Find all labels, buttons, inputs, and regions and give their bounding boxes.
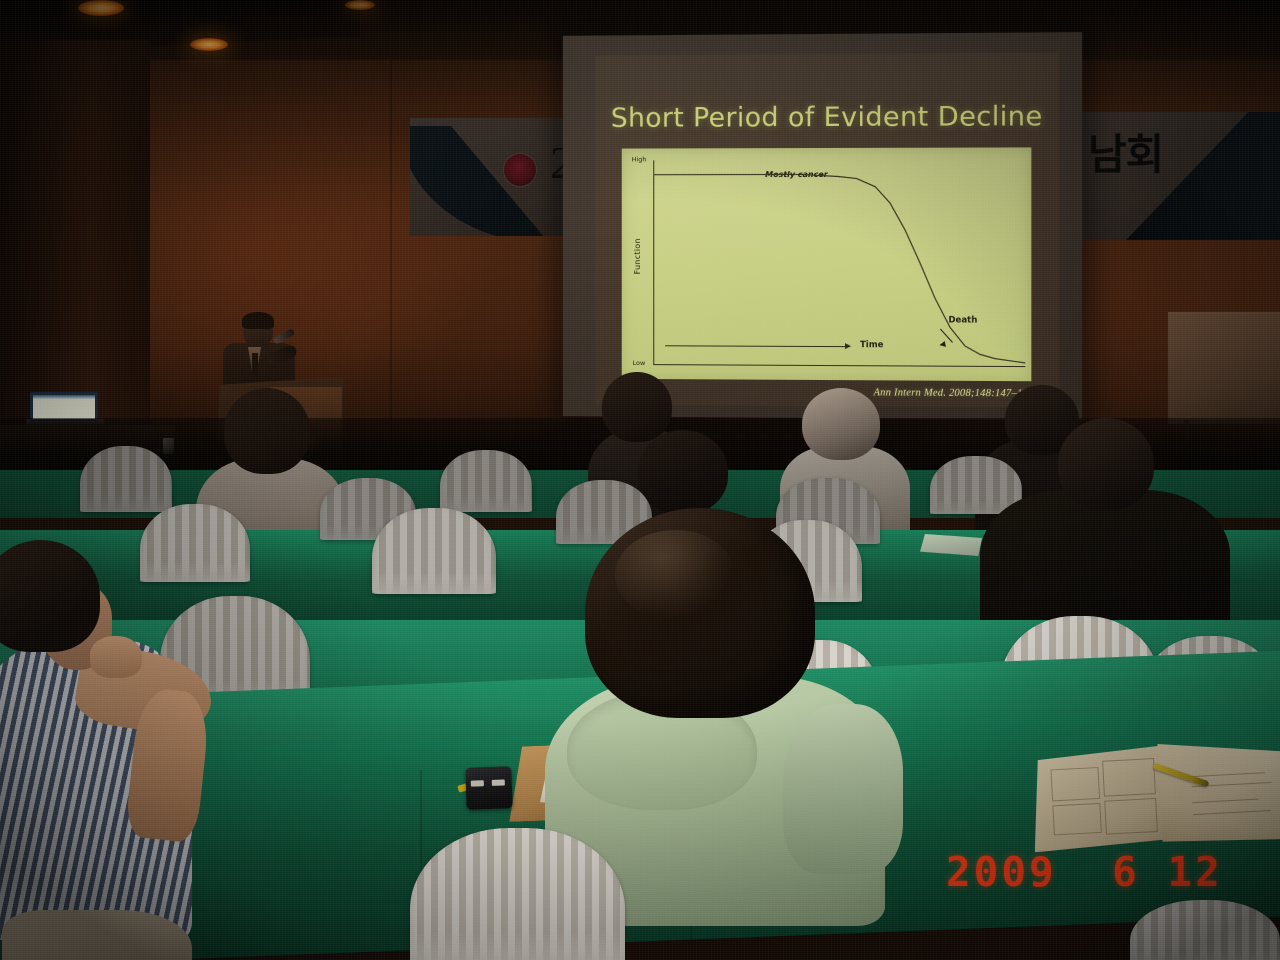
- ceiling-downlight-icon: [78, 0, 124, 16]
- wall-banner-right: 남회: [1082, 112, 1280, 240]
- presentation-slide: Short Period of Evident Decline High Low…: [595, 52, 1059, 407]
- slide-title: Short Period of Evident Decline: [595, 101, 1059, 134]
- camera-on-table: [465, 766, 512, 810]
- booklet-text-block: [1102, 758, 1156, 797]
- ceiling-downlight-icon: [190, 38, 228, 51]
- chair-cover: [80, 446, 172, 512]
- hair-highlight: [615, 530, 735, 620]
- audience-member-green-hoodie: [545, 508, 945, 908]
- projection-screen: Short Period of Evident Decline High Low…: [563, 26, 1082, 420]
- slide-chart-panel: High Low Function Mostly cancer Death Ti…: [622, 147, 1032, 381]
- booklet-right-page: [1157, 735, 1280, 846]
- hand: [90, 636, 142, 678]
- wall-banner-left: 2: [410, 118, 575, 236]
- head: [802, 388, 880, 460]
- camera-date-stamp: 2009 6 12: [946, 848, 1223, 896]
- head: [0, 540, 100, 652]
- y-axis-label: Function: [633, 226, 642, 286]
- booklet-text-block: [1052, 803, 1102, 835]
- leg: [2, 910, 192, 960]
- ceiling-downlight-icon: [345, 0, 375, 10]
- head: [224, 388, 310, 474]
- whiteboard: [1168, 312, 1280, 424]
- audience-member-striped-shirt: [0, 540, 232, 960]
- society-emblem-icon: [504, 154, 536, 186]
- y-tick-low: Low: [633, 359, 646, 367]
- right-shoulder: [783, 704, 903, 874]
- speaker-tie: [252, 353, 258, 379]
- speaker-hair: [242, 312, 274, 329]
- wall-seam: [390, 60, 392, 460]
- head: [638, 430, 728, 514]
- laptop-screen: [33, 395, 95, 419]
- open-program-booklet: [1029, 736, 1280, 857]
- chart-curve: [653, 160, 1025, 368]
- head: [1058, 418, 1154, 510]
- banner-korean-text: 남회: [1088, 134, 1163, 176]
- booklet-text-block: [1050, 767, 1100, 801]
- booklet-text-block: [1104, 798, 1158, 835]
- conference-photo: 2 남회 Short Period of Evident Decline Hig…: [0, 0, 1280, 960]
- y-tick-high: High: [632, 155, 647, 163]
- chair-cover: [372, 508, 496, 594]
- chair-cover: [440, 450, 532, 512]
